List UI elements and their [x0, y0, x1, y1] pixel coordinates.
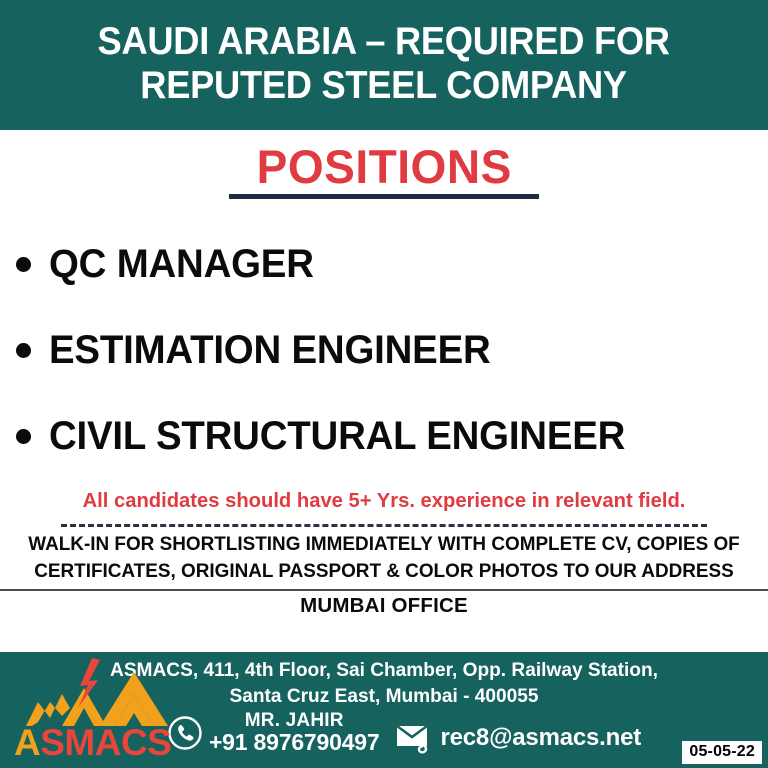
- envelope-icon: [393, 722, 435, 754]
- list-item: ESTIMATION ENGINEER: [0, 307, 768, 393]
- position-label: ESTIMATION ENGINEER: [49, 328, 491, 373]
- dashed-divider: [61, 524, 707, 527]
- email-contact[interactable]: rec8@asmacs.net: [393, 722, 641, 754]
- positions-title-container: POSITIONS: [0, 142, 768, 199]
- header-title-line-2: REPUTED STEEL COMPANY: [141, 64, 628, 108]
- job-advertisement-poster: SAUDI ARABIA – REQUIRED FOR REPUTED STEE…: [0, 0, 768, 768]
- position-label: QC MANAGER: [49, 242, 314, 287]
- bullet-dot-icon: [16, 257, 31, 272]
- positions-title: POSITIONS: [256, 142, 511, 191]
- office-label: MUMBAI OFFICE: [0, 594, 768, 621]
- header-title-line-1: SAUDI ARABIA – REQUIRED FOR: [98, 20, 670, 64]
- date-badge: 05-05-22: [682, 741, 762, 764]
- poster-body: POSITIONS QC MANAGER ESTIMATION ENGINEER…: [0, 130, 768, 652]
- asmacs-wordmark-rest: SMACS: [40, 722, 171, 763]
- asmacs-wordmark: ASMACS: [14, 722, 171, 764]
- positions-title-underline: [229, 194, 539, 199]
- asmacs-mountain-lightning-logo-icon: [22, 656, 202, 728]
- poster-header: SAUDI ARABIA – REQUIRED FOR REPUTED STEE…: [0, 0, 768, 130]
- bullet-dot-icon: [16, 343, 31, 358]
- poster-footer: ASMACS, 411, 4th Floor, Sai Chamber, Opp…: [0, 652, 768, 768]
- bullet-dot-icon: [16, 429, 31, 444]
- walkin-instructions: WALK-IN FOR SHORTLISTING IMMEDIATELY WIT…: [0, 531, 768, 584]
- email-address: rec8@asmacs.net: [440, 724, 641, 752]
- positions-list: QC MANAGER ESTIMATION ENGINEER CIVIL STR…: [0, 221, 768, 479]
- walkin-instruction-line-1: WALK-IN FOR SHORTLISTING IMMEDIATELY WIT…: [21, 531, 747, 558]
- list-item: CIVIL STRUCTURAL ENGINEER: [0, 393, 768, 479]
- walkin-instruction-line-2: CERTIFICATES, ORIGINAL PASSPORT & COLOR …: [21, 558, 747, 585]
- asmacs-logo: ASMACS: [8, 654, 238, 766]
- experience-requirement-note: All candidates should have 5+ Yrs. exper…: [6, 489, 762, 513]
- asmacs-wordmark-a: A: [14, 722, 40, 763]
- position-label: CIVIL STRUCTURAL ENGINEER: [49, 414, 625, 459]
- list-item: QC MANAGER: [0, 221, 768, 307]
- horizontal-rule: [0, 589, 768, 591]
